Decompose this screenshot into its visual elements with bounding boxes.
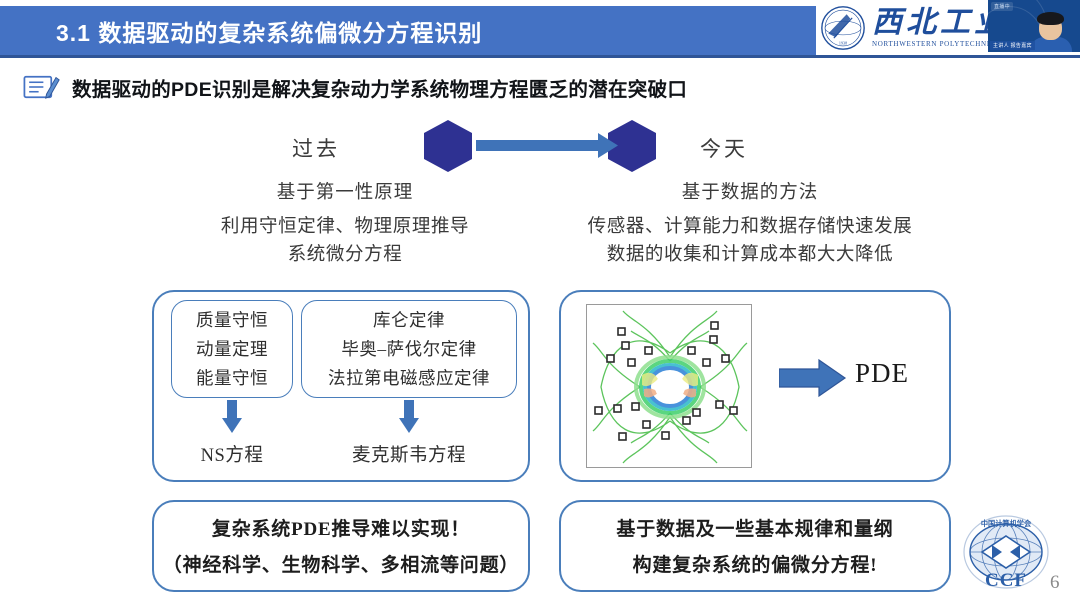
subtitle-text: 数据驱动的PDE识别是解决复杂动力学系统物理方程匮乏的潜在突破口 <box>72 73 687 102</box>
left-caption-head: 基于第一性原理 <box>155 178 535 204</box>
conservation-law-item: 能量守恒 <box>196 364 268 393</box>
page-number: 6 <box>1050 572 1060 594</box>
left-conclusion-line-1: 复杂系统PDE推导难以实现！ <box>154 514 528 541</box>
field-contour-plot <box>586 304 752 468</box>
slide-root: 3.1 数据驱动的复杂系统偏微分方程识别 1938 西北工业 NORTHWEST… <box>0 0 1080 606</box>
right-caption-line-1: 传感器、计算能力和数据存储快速发展 <box>545 213 955 241</box>
svg-text:CCF: CCF <box>985 570 1027 591</box>
left-caption-line-1: 利用守恒定律、物理原理推导 <box>155 213 535 241</box>
arrow-right-icon <box>476 133 618 158</box>
ccf-logo-icon: 中国计算机学会 CCF <box>962 512 1050 596</box>
em-law-item: 库仑定律 <box>373 306 445 335</box>
right-caption-body: 传感器、计算能力和数据存储快速发展 数据的收集和计算成本都大大降低 <box>545 213 955 269</box>
electromagnetic-laws-box: 库仑定律 毕奥–萨伐尔定律 法拉第电磁感应定律 <box>301 300 517 398</box>
right-caption-head: 基于数据的方法 <box>545 178 955 204</box>
em-law-item: 毕奥–萨伐尔定律 <box>341 335 476 364</box>
left-caption-line-2: 系统微分方程 <box>155 241 535 269</box>
live-tag: 直播中 <box>991 2 1013 11</box>
page-title: 3.1 数据驱动的复杂系统偏微分方程识别 <box>0 14 482 48</box>
pde-output-label: PDE <box>855 358 935 389</box>
conservation-laws-box: 质量守恒 动量定理 能量守恒 <box>171 300 293 398</box>
left-caption-body: 利用守恒定律、物理原理推导 系统微分方程 <box>155 213 535 269</box>
svg-text:1938: 1938 <box>839 40 847 45</box>
note-pencil-icon <box>22 72 60 102</box>
right-conclusion-line-1: 基于数据及一些基本规律和量纲 <box>561 514 949 541</box>
conservation-law-item: 动量定理 <box>196 335 268 364</box>
subtitle-row: 数据驱动的PDE识别是解决复杂动力学系统物理方程匮乏的潜在突破口 <box>22 72 687 102</box>
maxwell-equation-label: 麦克斯韦方程 <box>301 441 517 467</box>
right-conclusion-panel: 基于数据及一些基本规律和量纲 构建复杂系统的偏微分方程! <box>559 500 951 592</box>
conservation-law-item: 质量守恒 <box>196 306 268 335</box>
era-transition-arrow <box>420 118 660 174</box>
speaker-video-overlay[interactable]: 直播中 主讲人 报告嘉宾 <box>988 0 1080 52</box>
speaker-hair <box>1037 12 1064 25</box>
title-underline <box>0 55 1080 58</box>
hexagon-past-icon <box>424 120 472 172</box>
right-conclusion-line-2: 构建复杂系统的偏微分方程! <box>561 550 949 577</box>
em-law-item: 法拉第电磁感应定律 <box>328 364 490 393</box>
field-plot-svg <box>587 305 752 468</box>
left-conclusion-panel: 复杂系统PDE推导难以实现！ （神经科学、生物科学、多相流等问题） <box>152 500 530 592</box>
right-caption-line-2: 数据的收集和计算成本都大大降低 <box>545 241 955 269</box>
speaker-name-tag: 主讲人 报告嘉宾 <box>990 41 1035 50</box>
down-arrow-icon <box>221 400 243 434</box>
speaker-figure <box>1030 12 1072 52</box>
era-past-label: 过去 <box>292 133 340 163</box>
down-arrow-icon <box>398 400 420 434</box>
left-conclusion-line-2: （神经科学、生物科学、多相流等问题） <box>154 550 528 577</box>
right-arrow-icon <box>779 358 847 398</box>
ns-equation-label: NS方程 <box>171 441 293 467</box>
nwpu-seal-icon: 1938 <box>820 5 866 51</box>
era-today-label: 今天 <box>700 133 748 163</box>
svg-text:中国计算机学会: 中国计算机学会 <box>981 519 1032 528</box>
title-bar: 3.1 数据驱动的复杂系统偏微分方程识别 <box>0 6 816 55</box>
